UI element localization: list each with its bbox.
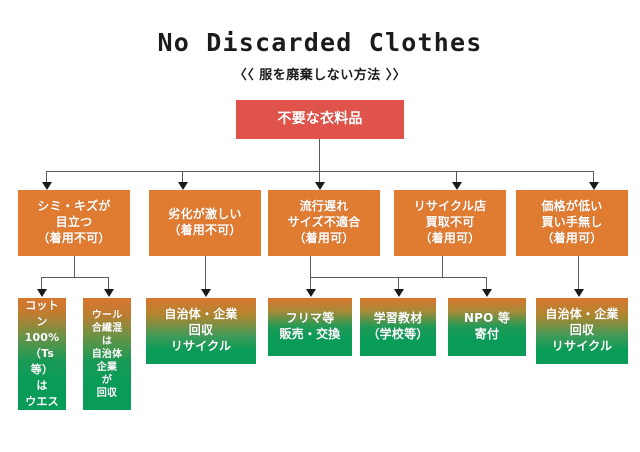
node-cause-3[interactable]: 流行遅れ サイズ不適合 （着用可） [268,190,380,256]
node-action-5-line-0: 学習教材 [362,311,434,327]
node-action-6-line-0: NPO 等 [450,311,524,327]
node-root-line-0: 不要な衣料品 [238,110,402,128]
page-title: No Discarded Clothes [0,28,640,57]
connector-root-stem [319,139,320,171]
node-action-2-line-5: が [85,374,129,387]
node-cause-1[interactable]: シミ・キズが 目立つ （着用不可） [18,190,130,256]
arrow-cause-3-to-action-4 [306,289,316,297]
node-cause-5-line-1: 買い手無し [518,215,626,231]
node-action-1-line-1: 100% [20,330,64,346]
node-cause-5-line-2: （着用可） [518,231,626,247]
arrow-root-to-cause-4 [452,182,462,190]
arrow-root-to-cause-5 [589,182,599,190]
node-action-2[interactable]: ウール 合繊混 は 自治体 企業 が 回収 [83,298,131,410]
node-action-2-line-4: 企業 [85,361,129,374]
node-cause-3-line-1: サイズ不適合 [270,215,378,231]
node-action-3-line-0: 自治体・企業 [148,307,254,323]
node-cause-2[interactable]: 劣化が激しい （着用不可） [149,190,261,256]
arrow-cause-3-to-action-5 [394,289,404,297]
node-action-6-line-1: 寄付 [450,327,524,343]
connector-cause-1-stem [74,256,75,277]
node-action-7-line-1: 回収 [538,323,626,339]
node-action-2-line-2: は [85,335,129,348]
node-action-5-line-1: （学校等） [362,327,434,343]
node-action-7[interactable]: 自治体・企業 回収 リサイクル [536,298,628,364]
arrow-root-to-cause-2 [178,182,188,190]
node-action-5[interactable]: 学習教材 （学校等） [360,298,436,356]
node-cause-1-line-2: （着用不可） [20,231,128,247]
node-action-7-line-2: リサイクル [538,339,626,355]
node-action-3[interactable]: 自治体・企業 回収 リサイクル [146,298,256,364]
connector-cause-5-to-action-7 [578,256,579,290]
connector-cause-3-stem [310,256,311,277]
arrow-cause-2-to-action-3 [201,289,211,297]
node-action-1-line-0: コットン [20,298,64,330]
arrow-cause-1-to-action-1 [37,289,47,297]
connector-cause-2-to-action-3 [205,256,206,290]
node-cause-4-line-0: リサイクル店 [396,199,504,215]
node-cause-3-line-0: 流行遅れ [270,199,378,215]
node-action-3-line-2: リサイクル [148,339,254,355]
node-cause-4-line-1: 買取不可 [396,215,504,231]
arrow-root-to-cause-1 [42,182,52,190]
node-cause-1-line-1: 目立つ [20,215,128,231]
arrow-cause-5-to-action-7 [574,289,584,297]
node-cause-4-line-2: （着用可） [396,231,504,247]
node-action-4-line-1: 販売・交換 [270,327,350,343]
node-action-2-line-6: 回収 [85,387,129,400]
flowchart-canvas: No Discarded Clothes 〈〈 服を廃棄しない方法 〉〉 不要な… [0,0,640,452]
node-action-1[interactable]: コットン 100% （Ts 等） は ウエス [18,298,66,410]
node-cause-2-line-0: 劣化が激しい [151,207,259,223]
node-action-1-line-2: （Ts 等） [20,346,64,378]
connector-cause-1-bus [41,277,108,278]
node-action-7-line-0: 自治体・企業 [538,307,626,323]
node-action-3-line-1: 回収 [148,323,254,339]
node-action-2-line-0: ウール [85,309,129,322]
arrow-cause-3-to-action-6 [482,289,492,297]
node-action-2-line-1: 合繊混 [85,322,129,335]
node-action-4-line-0: フリマ等 [270,311,350,327]
node-cause-5-line-0: 価格が低い [518,199,626,215]
arrow-root-to-cause-3 [315,182,325,190]
node-action-6[interactable]: NPO 等 寄付 [448,298,526,356]
node-action-4[interactable]: フリマ等 販売・交換 [268,298,352,356]
arrow-cause-1-to-action-2 [104,289,114,297]
connector-cause-4-to-bus [442,256,443,278]
page-subtitle: 〈〈 服を廃棄しない方法 〉〉 [0,64,640,83]
node-root[interactable]: 不要な衣料品 [236,100,404,139]
node-cause-2-line-1: （着用不可） [151,223,259,239]
node-action-1-line-4: ウエス [20,394,64,410]
node-action-1-line-3: は [20,378,64,394]
node-cause-4[interactable]: リサイクル店 買取不可 （着用可） [394,190,506,256]
node-cause-5[interactable]: 価格が低い 買い手無し （着用可） [516,190,628,256]
node-cause-1-line-0: シミ・キズが [20,199,128,215]
node-cause-3-line-2: （着用可） [270,231,378,247]
node-action-2-line-3: 自治体 [85,348,129,361]
